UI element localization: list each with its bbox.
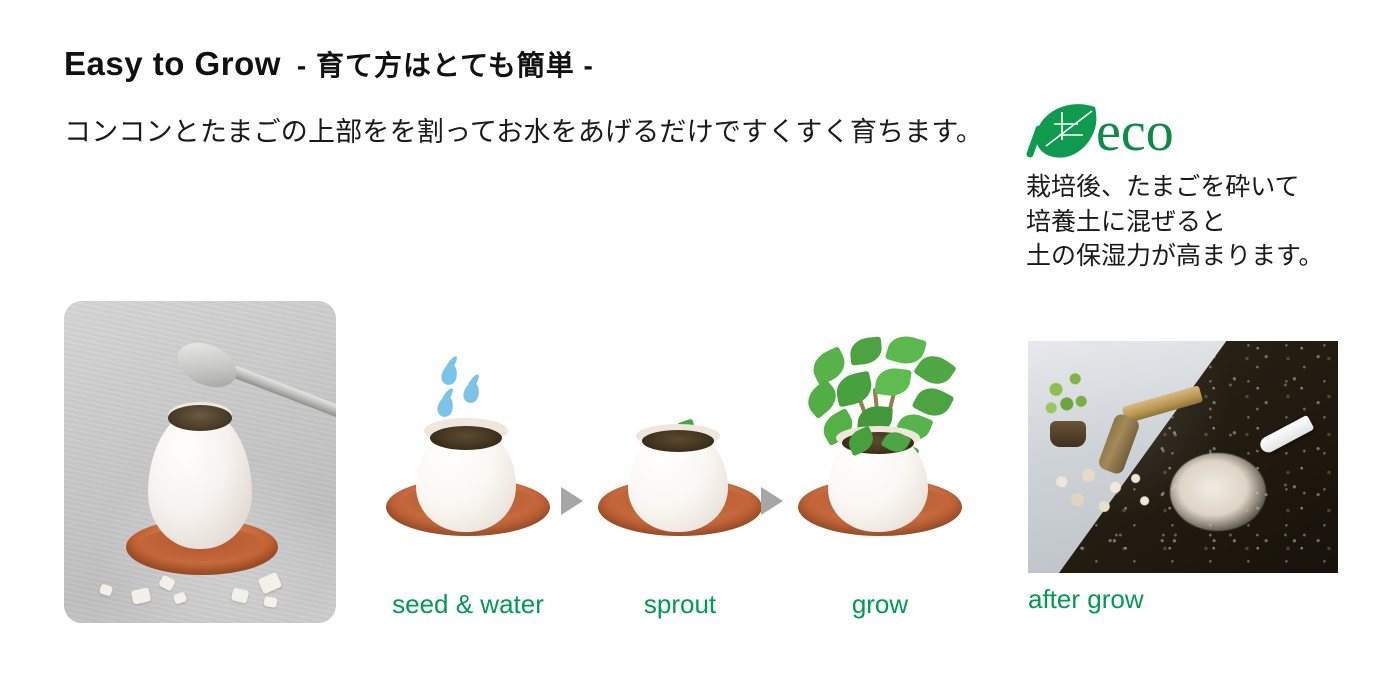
eco-description-line: 栽培後、たまごを砕いて <box>1026 170 1366 205</box>
page-lead-text: コンコンとたまごの上部をを割ってお水をあげるだけですくすく育ちます。 <box>64 110 983 149</box>
step-art-seed-and-water <box>380 330 556 570</box>
eggshell-opening-with-seeds <box>168 405 232 431</box>
step-label-seed-and-water: seed & water <box>380 589 556 620</box>
after-grow-photo <box>1028 341 1338 573</box>
crushed-eggshell-powder <box>1170 453 1266 531</box>
leaf-icon <box>1026 102 1100 162</box>
eco-description: 栽培後、たまごを砕いて 培養土に混ぜると 土の保湿力が高まります。 <box>1026 170 1366 274</box>
arrow-right-icon <box>761 487 783 515</box>
step-art-grow <box>792 330 968 570</box>
page-title-en: Easy to Grow <box>64 45 281 82</box>
hero-photo <box>64 301 336 623</box>
plant-pot <box>1050 421 1086 447</box>
water-drop-icon <box>440 362 460 386</box>
eco-logo: eco <box>1026 100 1366 164</box>
page-title-jp: - 育て方はとても簡単 - <box>297 50 594 81</box>
plant-leaf <box>833 371 874 408</box>
crushed-eggshell-chips <box>1046 465 1158 521</box>
step-seed-and-water: seed & water <box>380 330 556 622</box>
step-grow: grow <box>792 330 968 622</box>
water-drop-icon <box>436 394 456 418</box>
eco-wordmark: eco <box>1096 104 1174 160</box>
after-grow-label: after grow <box>1028 584 1144 615</box>
shell-fragment <box>263 596 277 608</box>
step-art-sprout <box>592 330 768 570</box>
soil <box>642 430 714 452</box>
page-title: Easy to Grow- 育て方はとても簡単 - <box>64 44 594 84</box>
step-label-sprout: sprout <box>592 589 768 620</box>
plant-leaf <box>849 336 884 365</box>
eco-block: eco 栽培後、たまごを砕いて 培養土に混ぜると 土の保湿力が高まります。 <box>1026 100 1366 274</box>
arrow-right-icon <box>561 487 583 515</box>
soil-with-seeds <box>430 426 502 450</box>
eco-description-line: 土の保湿力が高まります。 <box>1026 239 1366 274</box>
step-sprout: sprout <box>592 330 768 622</box>
step-label-grow: grow <box>792 589 968 620</box>
small-plant <box>1038 363 1098 429</box>
growth-steps: seed & water sprout <box>380 330 980 622</box>
plant-leaf <box>874 366 912 398</box>
water-drop-icon <box>462 380 482 404</box>
eco-description-line: 培養土に混ぜると <box>1026 205 1366 240</box>
